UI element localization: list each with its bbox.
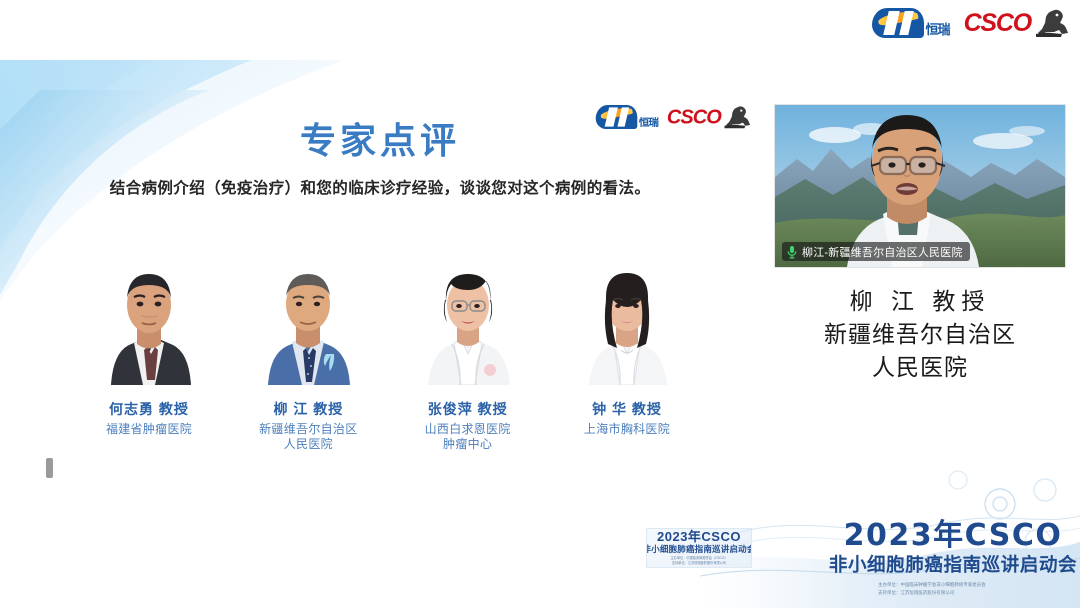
slide-stage: 恒瑞 CSCO 恒瑞 CSCO <box>0 0 1080 608</box>
video-participant-name: 柳江-新疆维吾尔自治区人民医院 <box>802 244 963 260</box>
event-title-line1: 2023年CSCO <box>844 521 1063 551</box>
expert-card: 张俊萍 教授 山西白求恩医院 肿瘤中心 <box>397 250 539 540</box>
event-fineprint-line2: 支持单位：江苏恒瑞医药股份有限公司 <box>878 589 1028 597</box>
expert-portrait <box>412 250 524 385</box>
hengrui-logo-cn: 恒瑞 <box>926 23 950 38</box>
microphone-icon <box>786 245 798 259</box>
expert-name: 张俊萍 教授 <box>428 399 508 419</box>
csco-logo-text: CSCO <box>964 11 1031 36</box>
experts-row: 何志勇 教授 福建省肿瘤医院 <box>78 250 698 540</box>
csco-lion-icon <box>1032 8 1068 38</box>
slide-csco-logo: CSCO <box>666 105 750 129</box>
slide-badge-line1: 2023年CSCO <box>657 530 741 543</box>
expert-portrait <box>252 250 364 385</box>
event-fineprint-line1: 主办单位：中国临床肿瘤学会非小细胞肺癌专家委员会 <box>878 581 1028 589</box>
slide-hengrui-logo: 恒瑞 <box>595 105 657 129</box>
expert-name: 何志勇 教授 <box>109 399 189 419</box>
slide-csco-lion-icon <box>721 105 750 129</box>
video-tile[interactable]: 柳江-新疆维吾尔自治区人民医院 <box>775 105 1065 267</box>
expert-portrait <box>571 250 683 385</box>
csco-logo: CSCO <box>964 8 1068 38</box>
slide-badge-fineprint: 主办单位：中国临床肿瘤学会（CSCO） 支持单位：江苏恒瑞医药股份有限公司 <box>670 556 727 566</box>
expert-name: 柳 江 教授 <box>273 399 343 419</box>
expert-portrait <box>93 250 205 385</box>
speaker-caption: 柳 江 教授 新疆维吾尔自治区 人民医院 <box>760 285 1080 384</box>
slide-event-badge: 2023年CSCO 非小细胞肺癌指南巡讲启动会 主办单位：中国临床肿瘤学会（CS… <box>646 528 752 568</box>
slide-csco-logo-text: CSCO <box>666 107 720 127</box>
expert-org: 福建省肿瘤医院 <box>106 422 192 437</box>
hengrui-mark-icon <box>872 8 924 38</box>
slide-hengrui-mark-icon <box>595 105 637 129</box>
expert-card: 何志勇 教授 福建省肿瘤医院 <box>78 250 220 540</box>
slide-subtitle: 结合病例介绍（免疫治疗）和您的临床诊疗经验，谈谈您对这个病例的看法。 <box>0 176 760 198</box>
speaker-org-line1: 新疆维吾尔自治区 <box>760 318 1080 351</box>
event-branding-lockup: 2023年CSCO 非小细胞肺癌指南巡讲启动会 主办单位：中国临床肿瘤学会非小细… <box>834 518 1072 600</box>
expert-card: 柳 江 教授 新疆维吾尔自治区 人民医院 <box>237 250 379 540</box>
header-logos: 恒瑞 CSCO <box>872 8 1068 38</box>
slide-badge-line2: 非小细胞肺癌指南巡讲启动会 <box>646 545 752 554</box>
expert-org: 上海市胸科医院 <box>584 422 670 437</box>
event-title-line2: 非小细胞肺癌指南巡讲启动会 <box>829 556 1077 575</box>
speaker-name: 柳 江 教授 <box>760 285 1080 318</box>
hengrui-logo: 恒瑞 <box>872 8 950 38</box>
slide-logos: 恒瑞 CSCO <box>595 105 750 129</box>
slide-hengrui-logo-cn: 恒瑞 <box>638 117 657 129</box>
expert-org: 新疆维吾尔自治区 人民医院 <box>259 422 357 452</box>
expert-org: 山西白求恩医院 肿瘤中心 <box>425 422 511 452</box>
video-participant-label: 柳江-新疆维吾尔自治区人民医院 <box>782 242 970 261</box>
presentation-slide: 恒瑞 CSCO 专家点评 结合病例介绍（免疫治疗）和您的临床诊疗经验，谈谈您对这… <box>0 60 760 580</box>
event-fineprint: 主办单位：中国临床肿瘤学会非小细胞肺癌专家委员会 支持单位：江苏恒瑞医药股份有限… <box>878 581 1028 597</box>
expert-name: 钟 华 教授 <box>592 399 662 419</box>
panel-collapse-handle[interactable] <box>46 458 53 478</box>
expert-card: 钟 华 教授 上海市胸科医院 <box>556 250 698 540</box>
speaker-org-line2: 人民医院 <box>760 351 1080 384</box>
